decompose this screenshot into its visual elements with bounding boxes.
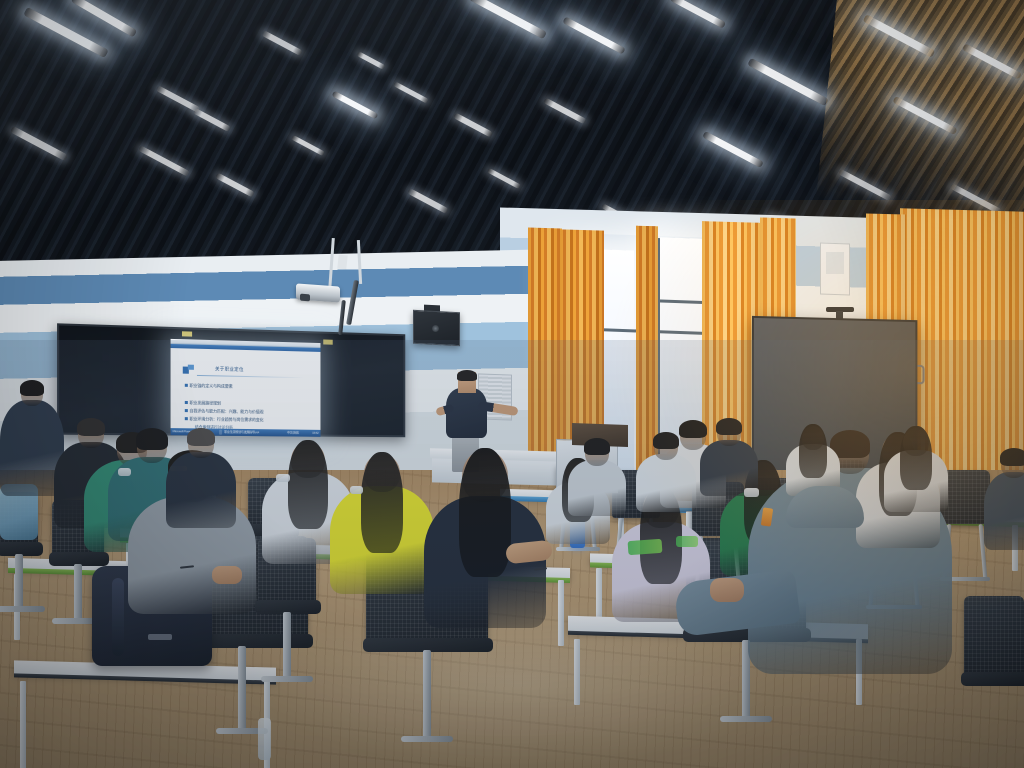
attendee-standing-left-hair (20, 380, 44, 396)
face-mask-3 (744, 488, 759, 497)
attendee-navy-shirt (166, 428, 236, 532)
face-mask-4 (118, 468, 131, 476)
attendee-back-row-1-hair (799, 424, 827, 478)
hoodie-green-print-2 (676, 536, 698, 547)
attendee-window-row-3 (636, 432, 696, 516)
attendee-teal-shirt-hair (136, 428, 168, 450)
attendee-far-right-hair (1000, 448, 1024, 466)
seated-attendees (0, 0, 1024, 768)
classroom-photo: 关于职业定位 职业锚的定义与构成要素 职业发展路径规划 自我评估与能力匹配：兴趣… (0, 0, 1024, 768)
attendee-navy-dress-hair (459, 448, 511, 577)
attendee-window-row-3-hair (653, 432, 679, 449)
gray-shirt-arm (212, 566, 242, 584)
attendee-window-row-2-torso (568, 460, 626, 516)
attendee-window-row-2-hair (584, 438, 610, 455)
attendee-navy-shirt-torso (166, 452, 236, 528)
attendee-back-row-2-hair (900, 426, 932, 490)
eyeglasses (170, 466, 187, 471)
attendee-window-row-2 (568, 438, 626, 520)
attendee-far-right-torso (984, 472, 1024, 550)
attendee-navy-dress (424, 448, 546, 632)
attendee-far-right (984, 448, 1024, 554)
hoodie-green-print (628, 539, 663, 555)
attendee-window-row-4-hair (716, 418, 742, 435)
attendee-yellow-jacket (330, 452, 434, 598)
attendee-window-row-3-torso (636, 454, 696, 512)
face-mask-2 (350, 486, 363, 494)
face-mask-1 (276, 474, 290, 482)
attendee-navy-shirt-hair (187, 428, 215, 446)
attendee-back-row-2 (884, 426, 948, 516)
attendee-yellow-jacket-hair (361, 452, 403, 553)
attendee-white-top-mask-hair (288, 440, 328, 529)
blue-windbreaker-hand (710, 578, 744, 602)
